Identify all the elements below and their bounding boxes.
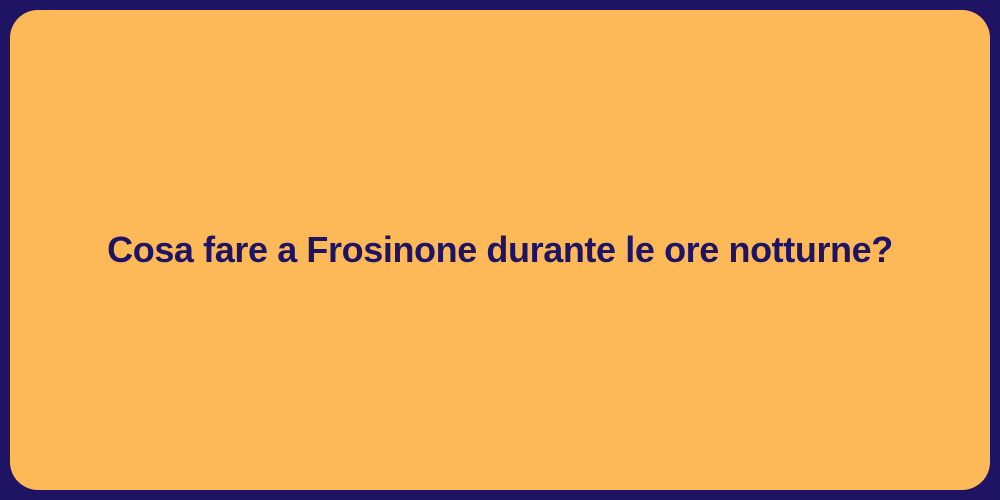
content-card: Cosa fare a Frosinone durante le ore not… bbox=[10, 10, 990, 490]
page-title: Cosa fare a Frosinone durante le ore not… bbox=[67, 229, 933, 270]
page-frame: Cosa fare a Frosinone durante le ore not… bbox=[0, 0, 1000, 500]
